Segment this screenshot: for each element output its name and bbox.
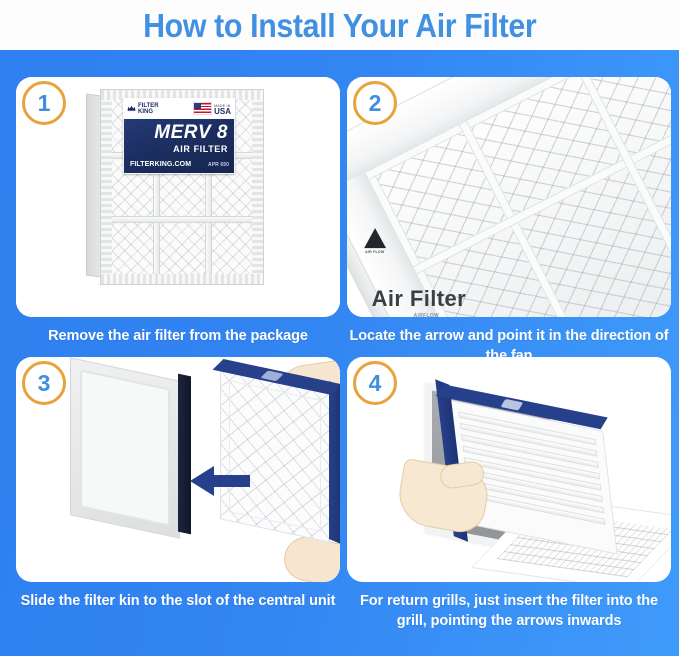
filter-front-face: FILTER KING MADE IN USA [100,89,264,285]
step-card-4: 4 For return grills, just insert the fil… [347,357,671,631]
filter-pleat-mesh [220,369,330,542]
filter-support-bar [101,216,263,223]
infographic-page: How to Install Your Air Filter [0,0,679,656]
made-in-usa-badge: MADE IN USA [193,102,231,115]
step-number-badge-1: 1 [22,81,66,125]
airflow-label: AIR FLOW [365,250,384,254]
step-number-badge-4: 4 [353,361,397,405]
step-4-image-card: 4 [347,357,671,582]
filter-frame [347,77,671,317]
filter-edge [252,90,263,284]
step-3-illustration [16,357,340,582]
page-title: How to Install Your Air Filter [143,9,536,42]
filter-inner-border [229,380,321,532]
central-unit-face [80,369,170,526]
step-2-illustration: AIR FLOW Air Filter AIRFLOW [347,77,671,317]
website-text: FILTERKING.COM [130,161,191,168]
filter-edge [101,90,112,284]
central-unit-body [70,357,180,538]
brand-name: FILTER KING [138,103,159,115]
step-2-image-card: AIR FLOW Air Filter AIRFLOW 2 [347,77,671,317]
made-in-usa-text: MADE IN USA [214,104,231,114]
hand-inserting-filter [394,458,492,536]
step-card-3: 3 Slide the filter kin to the slot of th… [16,357,340,611]
step-number-badge-3: 3 [22,361,66,405]
filter-edge [101,274,263,284]
step-card-1: FILTER KING MADE IN USA [16,77,340,346]
arrow-triangle-icon [362,227,388,251]
header-band: How to Install Your Air Filter [0,0,679,50]
us-flag-icon [193,102,212,115]
product-label: FILTER KING MADE IN USA [123,98,235,174]
airflow-arrow-icon: AIR FLOW [362,227,392,261]
product-type: AIR FILTER [124,144,228,154]
direction-arrow-icon [188,461,250,501]
step-card-2: AIR FLOW Air Filter AIRFLOW 2 Locate the… [347,77,671,366]
step-caption-4: For return grills, just insert the filte… [347,591,671,631]
merv-rating: MERV 8 [124,123,228,142]
filter-side-frame [329,381,340,545]
step-3-image-card: 3 [16,357,340,582]
filter-king-logo: FILTER KING [127,103,159,115]
step-caption-3: Slide the filter kin to the slot of the … [16,591,340,611]
central-unit-slot [178,374,191,535]
step-4-illustration [347,357,671,582]
replacement-filter [220,369,330,542]
step-caption-1: Remove the air filter from the package [16,326,340,346]
air-filter-product-photo: FILTER KING MADE IN USA [86,89,266,287]
air-filter-edge-label: Air Filter AIRFLOW [372,286,522,317]
steps-grid: FILTER KING MADE IN USA [0,50,679,656]
crown-icon [127,104,136,113]
filter-corner-photo: AIR FLOW Air Filter AIRFLOW [347,77,671,317]
label-header-strip: FILTER KING MADE IN USA [123,98,235,119]
apr-rating: APR 650 [208,162,229,168]
label-footer-strip: FILTERKING.COM APR 650 [130,161,229,168]
step-number-badge-2: 2 [353,81,397,125]
step-1-illustration: FILTER KING MADE IN USA [16,77,340,317]
step-1-image-card: FILTER KING MADE IN USA [16,77,340,317]
